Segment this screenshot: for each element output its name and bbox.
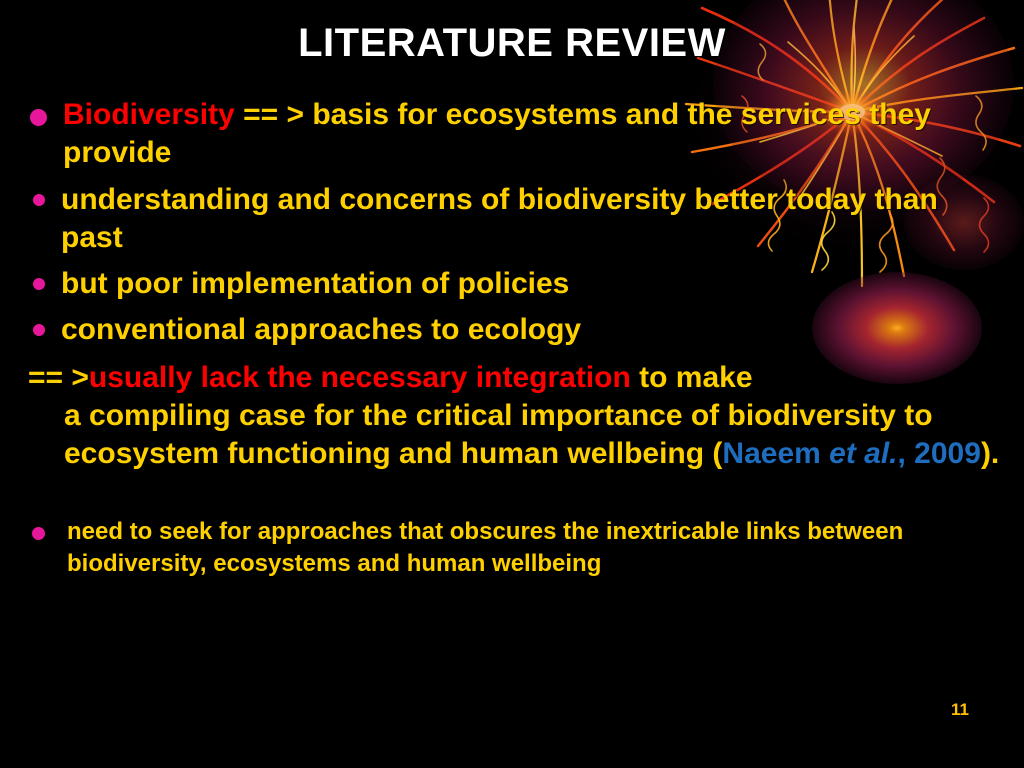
paragraph-highlight: usually lack the necessary integration <box>89 361 631 394</box>
bullet-text-3: but poor implementation of policies <box>45 265 1006 303</box>
bullet-item-3: but poor implementation of policies <box>22 265 1006 303</box>
bullet-text-2: understanding and concerns of biodiversi… <box>45 181 1006 257</box>
citation-closing: ). <box>981 437 999 470</box>
bullet-text-4: conventional approaches to ecology <box>45 311 1006 349</box>
bullet-dot-icon <box>33 194 45 206</box>
presentation-slide: LITERATURE REVIEW Biodiversity == > basi… <box>0 0 1024 768</box>
slide-title: LITERATURE REVIEW <box>0 22 1024 64</box>
bullet-item-1: Biodiversity == > basis for ecosystems a… <box>22 96 1006 172</box>
bullet-dot-icon <box>33 278 45 290</box>
bullet-text-1: Biodiversity == > basis for ecosystems a… <box>47 96 1006 172</box>
bullet-1-highlight: Biodiversity <box>63 98 235 131</box>
citation-author: Naeem <box>722 437 829 470</box>
paragraph-continuation: a compiling case for the critical import… <box>28 397 1006 473</box>
bullet-1-arrow: == > <box>235 98 313 131</box>
slide-body: Biodiversity == > basis for ecosystems a… <box>22 96 1006 580</box>
citation-year: , 2009 <box>898 437 981 470</box>
paragraph-arrow: == > <box>28 361 89 394</box>
citation-etal: et al. <box>829 437 897 470</box>
page-number: 11 <box>951 700 969 720</box>
paragraph-rest-1: to make <box>631 361 753 394</box>
bullet-item-4: conventional approaches to ecology <box>22 311 1006 349</box>
bullet-dot-icon <box>32 527 45 540</box>
bullet-dot-icon <box>30 109 47 126</box>
bullet-text-5: need to seek for approaches that obscure… <box>45 516 1006 579</box>
bullet-dot-icon <box>33 324 45 336</box>
bullet-item-2: understanding and concerns of biodiversi… <box>22 181 1006 257</box>
bullet-item-5: need to seek for approaches that obscure… <box>22 516 1006 579</box>
paragraph-block: == >usually lack the necessary integrati… <box>22 359 1006 473</box>
